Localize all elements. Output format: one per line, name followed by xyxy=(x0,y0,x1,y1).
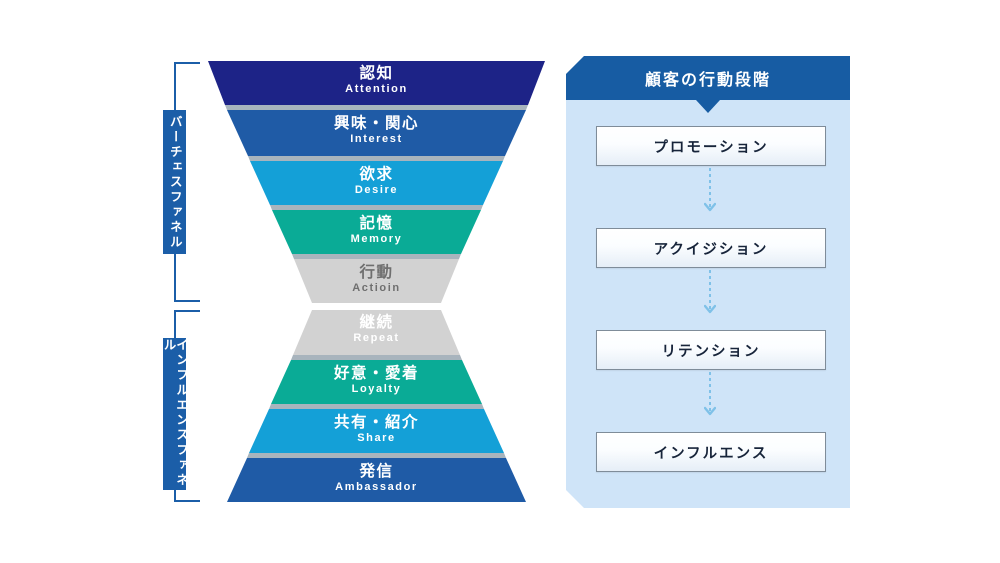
step-box-retention[interactable]: リテンション xyxy=(596,330,826,370)
funnel-segment-desire xyxy=(250,161,503,205)
funnel-divider-5 xyxy=(291,355,462,360)
connector-arrow-3 xyxy=(704,372,716,414)
funnel-divider-1 xyxy=(225,105,528,110)
panel-title: 顧客の行動段階 xyxy=(566,56,850,100)
funnel-segments xyxy=(208,61,545,502)
step-box-label: プロモーション xyxy=(653,136,768,157)
step-box-label: アクイジション xyxy=(654,238,769,259)
funnel-segment-ambassador xyxy=(227,458,526,502)
funnel-divider-6 xyxy=(269,404,484,409)
funnel-segment-interest xyxy=(227,110,526,156)
customer-stage-panel: 顧客の行動段階 プロモーション アクイジション リテンション xyxy=(566,56,850,508)
chevron-down-icon xyxy=(704,304,716,314)
step-box-acquisition[interactable]: アクイジション xyxy=(596,228,826,268)
funnel-divider-2 xyxy=(248,156,505,161)
chevron-down-icon xyxy=(704,202,716,212)
connector-arrow-2 xyxy=(704,270,716,312)
step-box-influence[interactable]: インフルエンス xyxy=(596,432,826,472)
funnel-segment-memory xyxy=(272,210,481,254)
funnel-divider-3 xyxy=(270,205,483,210)
funnel-divider-4 xyxy=(292,254,461,259)
funnel-segment-loyalty xyxy=(271,360,482,404)
chevron-down-icon xyxy=(704,406,716,416)
connector-arrow-1 xyxy=(704,168,716,210)
funnel-segment-action xyxy=(294,259,459,303)
step-box-label: インフルエンス xyxy=(654,442,769,463)
diagram-canvas: バーチェスファネル インフルエンスファネル 認知 xyxy=(0,0,1000,563)
funnel-divider-7 xyxy=(247,453,506,458)
funnel-segment-attention xyxy=(208,61,545,105)
step-box-label: リテンション xyxy=(662,340,761,361)
funnel-segment-repeat xyxy=(293,310,460,355)
double-funnel-graphic xyxy=(0,0,1000,563)
funnel-segment-share xyxy=(249,409,504,453)
step-box-promotion[interactable]: プロモーション xyxy=(596,126,826,166)
